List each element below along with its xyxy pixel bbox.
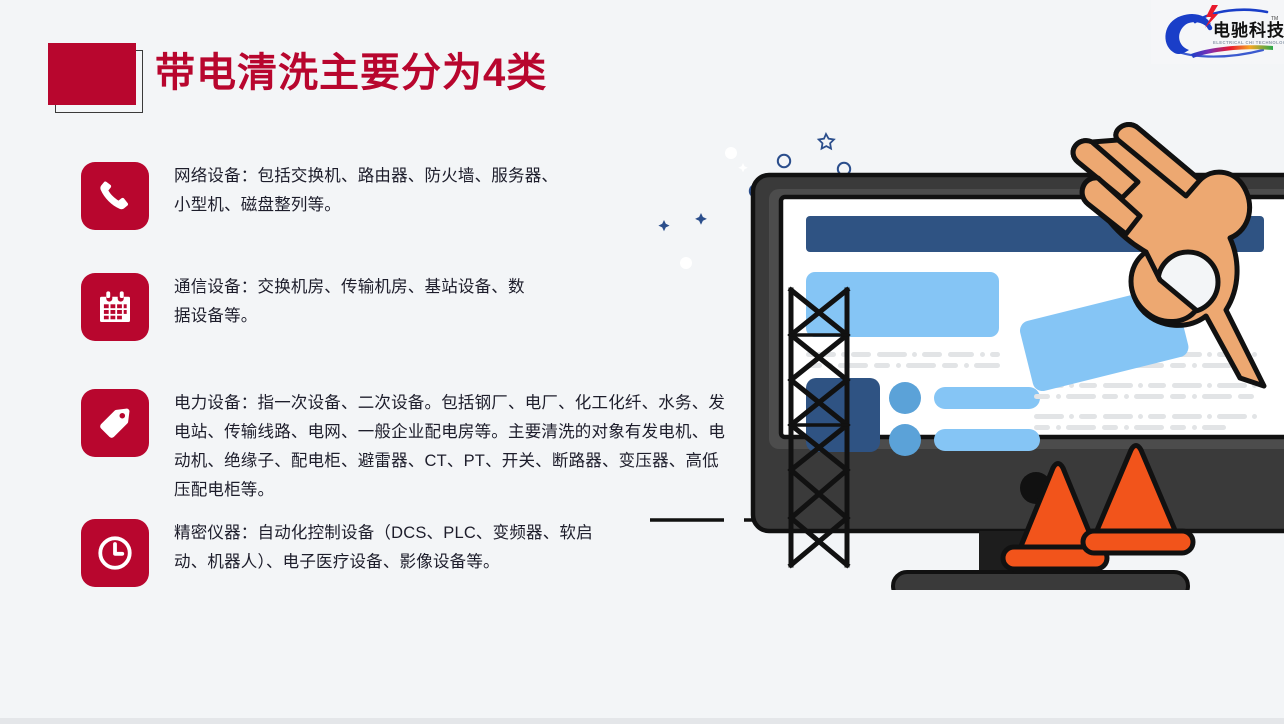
- list-item-text: 网络设备：包括交换机、路由器、防火墙、服务器、小型机、磁盘整列等。: [174, 162, 574, 220]
- phone-icon: [81, 162, 149, 230]
- list-item-text: 精密仪器：自动化控制设备（DCS、PLC、变频器、软启动、机器人）、电子医疗设备…: [174, 519, 594, 577]
- company-logo: 电驰科技 ELECTRICAL CHI TECHNOLOGY TM: [1151, 0, 1284, 64]
- list-item[interactable]: 电力设备：指一次设备、二次设备。包括钢厂、电厂、化工化纤、水务、发电站、传输线路…: [81, 389, 726, 505]
- tag-icon: [81, 389, 149, 457]
- logo-brand-en: ELECTRICAL CHI TECHNOLOGY: [1213, 40, 1284, 45]
- monitor-base: [893, 572, 1188, 590]
- clock-icon: [81, 519, 149, 587]
- logo-brand-cn: 电驰科技: [1213, 20, 1284, 40]
- list-item[interactable]: 网络设备：包括交换机、路由器、防火墙、服务器、小型机、磁盘整列等。: [81, 162, 574, 230]
- list-item-text: 通信设备：交换机房、传输机房、基站设备、数据设备等。: [174, 273, 534, 331]
- bullet-list: 网络设备：包括交换机、路由器、防火墙、服务器、小型机、磁盘整列等。: [0, 0, 740, 724]
- logo-trademark: TM: [1271, 16, 1278, 22]
- monitor-hand-card-illustration: [640, 120, 1284, 590]
- logo-graphic: 电驰科技 ELECTRICAL CHI TECHNOLOGY TM: [1151, 0, 1284, 64]
- list-item[interactable]: 精密仪器：自动化控制设备（DCS、PLC、变频器、软启动、机器人）、电子医疗设备…: [81, 519, 594, 587]
- screen-avatar-block: [806, 378, 880, 452]
- bottom-edge-strip: [0, 718, 1284, 724]
- calendar-icon: [81, 273, 149, 341]
- list-item[interactable]: 通信设备：交换机房、传输机房、基站设备、数据设备等。: [81, 273, 534, 341]
- slide-root: 电驰科技 ELECTRICAL CHI TECHNOLOGY TM 带电清洗主要…: [0, 0, 1284, 724]
